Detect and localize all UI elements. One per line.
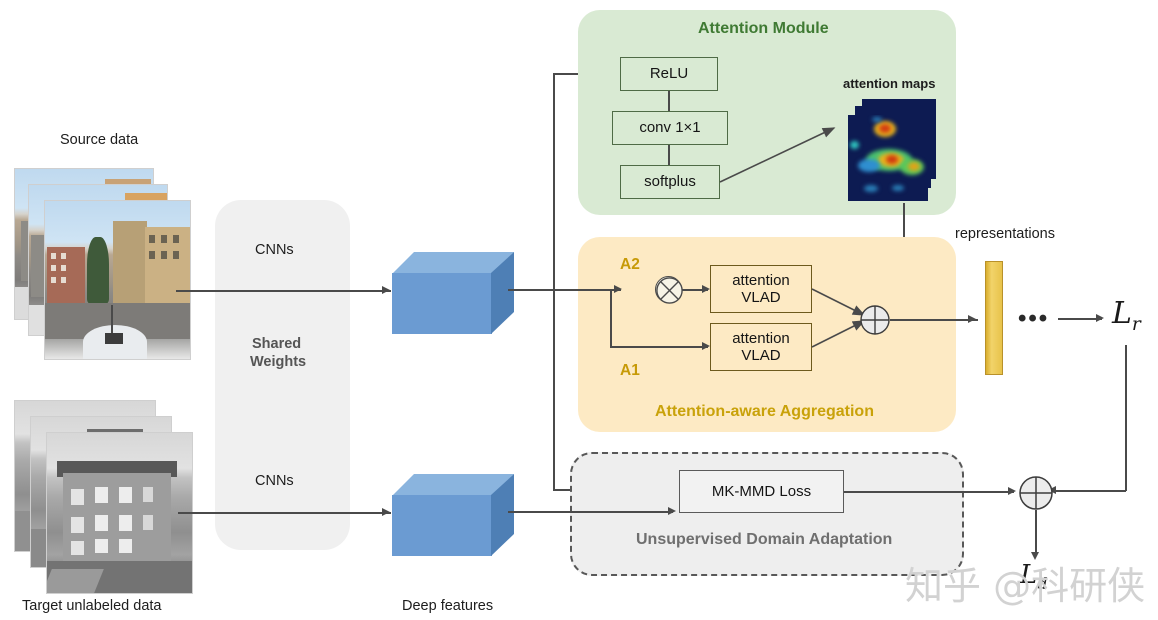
source-image-front <box>44 200 191 360</box>
line-total-sum-down <box>1035 510 1037 555</box>
aggregation-sum-operator <box>860 305 890 335</box>
line-riser-to-attention <box>553 74 555 290</box>
attention-maps-stack <box>848 99 940 203</box>
representation-bar <box>985 261 1003 375</box>
line-relu-to-conv <box>668 91 670 111</box>
softplus-box[interactable]: softplus <box>620 165 720 199</box>
attention-vlad-upper-line2: VLAD <box>741 289 780 306</box>
arrow-target-to-features <box>382 508 390 516</box>
arrow-target-into-mmd <box>668 507 676 515</box>
conv-1x1-box[interactable]: conv 1×1 <box>612 111 728 145</box>
arrow-a1-into-lower-vlad <box>702 342 710 350</box>
arrow-source-to-features <box>382 286 390 294</box>
arrow-mmd-into-total-sum <box>1008 487 1016 495</box>
aggregation-title: Attention-aware Aggregation <box>655 403 874 421</box>
line-loss-r-to-total-sum <box>1053 490 1126 492</box>
line-loss-r-down <box>1125 345 1127 491</box>
line-a1-drop <box>610 289 612 347</box>
attention-map-front <box>848 115 928 201</box>
loss-r-symbol: Lr <box>1112 296 1141 335</box>
watermark: 知乎 @科研侠 <box>905 555 1145 610</box>
loss-r-base: L <box>1112 296 1132 331</box>
representations-label: representations <box>955 226 1055 242</box>
line-riser-to-mmd <box>553 289 555 490</box>
branch-tag-a2: A2 <box>620 256 640 274</box>
line-source-to-cnn <box>176 290 391 292</box>
target-image-front <box>46 432 193 594</box>
arrow-multiply-into-upper-vlad <box>702 285 710 293</box>
total-loss-sum-operator <box>1019 476 1053 510</box>
line-mmd-to-total-sum <box>844 491 1014 493</box>
multiply-operator <box>655 276 682 303</box>
arrow-into-loss-r <box>1096 314 1104 322</box>
shared-weights-label-line2: Weights <box>250 354 306 370</box>
line-softplus-to-attention-maps <box>718 120 848 200</box>
loss-r-subscript: r <box>1132 314 1141 335</box>
attention-vlad-lower-box[interactable]: attention VLAD <box>710 323 812 371</box>
target-data-label: Target unlabeled data <box>22 598 161 614</box>
attention-vlad-upper-box[interactable]: attention VLAD <box>710 265 812 313</box>
arrow-into-multiply <box>614 285 622 293</box>
attention-vlad-lower-line1: attention <box>732 330 790 347</box>
relu-box[interactable]: ReLU <box>620 57 718 91</box>
line-sum-to-representations <box>890 319 978 321</box>
deep-features-cuboid-source <box>392 252 514 334</box>
architecture-diagram: Source data <box>0 0 1158 620</box>
line-target-to-cnn <box>178 512 391 514</box>
line-conv-to-softplus <box>668 145 670 165</box>
line-target-features-to-mmd <box>508 511 673 513</box>
source-image-stack <box>14 168 184 358</box>
arrow-into-representations <box>968 315 976 323</box>
attention-maps-label: attention maps <box>843 76 935 91</box>
attention-module-title: Attention Module <box>698 20 829 38</box>
mk-mmd-loss-box[interactable]: MK-MMD Loss <box>679 470 844 513</box>
shared-weights-label-line1: Shared <box>252 336 301 352</box>
deep-features-label: Deep features <box>402 598 493 614</box>
uda-title: Unsupervised Domain Adaptation <box>636 531 892 549</box>
cnn-top-label: CNNs <box>255 242 294 258</box>
line-a1-to-lower-vlad <box>610 346 708 348</box>
target-image-stack <box>14 400 186 596</box>
deep-features-cuboid-target <box>392 474 514 556</box>
cnn-bottom-label: CNNs <box>255 473 294 489</box>
attention-vlad-upper-line1: attention <box>732 272 790 289</box>
attention-vlad-lower-line2: VLAD <box>741 347 780 364</box>
source-data-label: Source data <box>60 132 138 148</box>
representations-ellipsis: ••• <box>1018 305 1049 333</box>
branch-tag-a1: A1 <box>620 362 640 380</box>
